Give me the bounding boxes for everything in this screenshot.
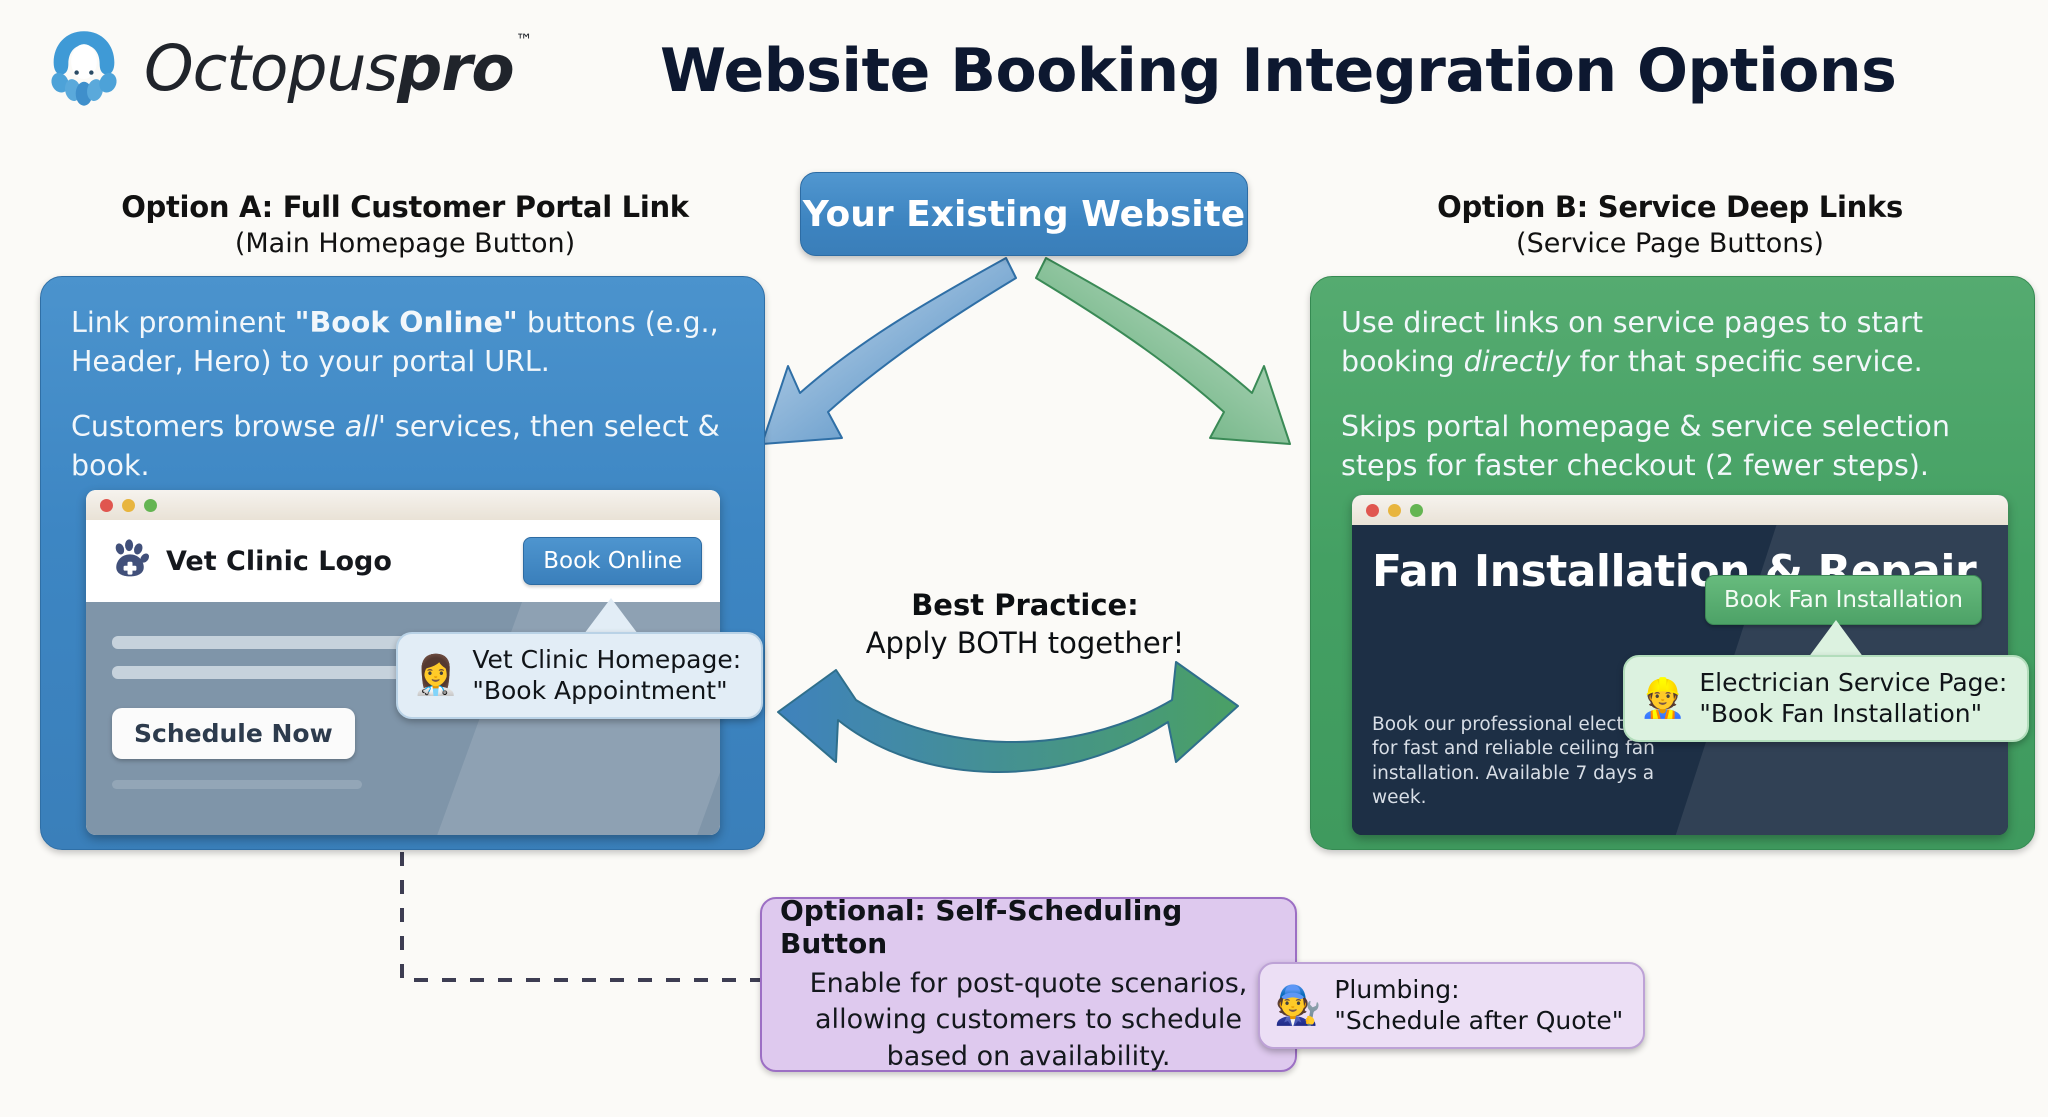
vet-brand: Vet Clinic Logo — [108, 537, 392, 586]
vet-callout-tail — [584, 598, 638, 634]
electrician-callout-text: Electrician Service Page: "Book Fan Inst… — [1699, 668, 2007, 729]
dashed-connector-optional — [402, 852, 760, 980]
para1-bold: "Book Online" — [295, 306, 518, 339]
close-dot-icon[interactable] — [100, 499, 113, 512]
plumbing-callout-text: Plumbing: "Schedule after Quote" — [1334, 975, 1623, 1036]
vet-callout-line2: "Book Appointment" — [472, 676, 727, 705]
arrow-both-directions — [778, 662, 1238, 772]
construction-worker-emoji-icon: 👷 — [1639, 680, 1686, 718]
best-practice-title: Best Practice: — [790, 588, 1260, 622]
optional-title: Optional: Self-Scheduling Button — [780, 894, 1277, 960]
vet-callout-line1: Vet Clinic Homepage: — [472, 645, 741, 674]
plumbing-callout-line2: "Schedule after Quote" — [1334, 1006, 1623, 1035]
vet-callout: 👩‍⚕️ Vet Clinic Homepage: "Book Appointm… — [396, 632, 763, 719]
arrow-to-option-b — [1036, 258, 1290, 444]
placeholder-line — [112, 780, 362, 789]
octopus-logo-icon — [38, 22, 130, 114]
brand-logo: Octopuspro™ — [38, 22, 530, 114]
brand-name-bold: pro — [397, 32, 513, 105]
plumber-emoji-icon: 🧑‍🔧 — [1274, 987, 1321, 1025]
diagram-canvas: Octopuspro™ Website Booking Integration … — [0, 0, 2048, 1117]
para1-pre: Link prominent — [71, 306, 295, 339]
option-b-subheading: (Service Page Buttons) — [1305, 228, 2035, 259]
zoom-dot-icon[interactable] — [1410, 504, 1423, 517]
minimize-dot-icon[interactable] — [122, 499, 135, 512]
b-para1-post: for that specific service. — [1571, 345, 1923, 378]
brand-name-light: Octopus — [144, 32, 397, 105]
schedule-now-button[interactable]: Schedule Now — [112, 708, 355, 759]
existing-website-label: Your Existing Website — [803, 194, 1245, 235]
minimize-dot-icon[interactable] — [1388, 504, 1401, 517]
placeholder-line — [112, 666, 432, 679]
option-b-heading-group: Option B: Service Deep Links (Service Pa… — [1305, 190, 2035, 259]
trademark-symbol: ™ — [516, 31, 532, 51]
vet-callout-text: Vet Clinic Homepage: "Book Appointment" — [472, 645, 741, 706]
plumbing-callout: 🧑‍🔧 Plumbing: "Schedule after Quote" — [1258, 962, 1645, 1049]
para2-pre: Customers browse — [71, 410, 345, 443]
close-dot-icon[interactable] — [1366, 504, 1379, 517]
book-online-button[interactable]: Book Online — [523, 537, 702, 585]
best-practice-note: Best Practice: Apply BOTH together! — [790, 588, 1260, 660]
zoom-dot-icon[interactable] — [144, 499, 157, 512]
option-a-paragraph-1: Link prominent "Book Online" buttons (e.… — [71, 303, 734, 381]
optional-self-scheduling-box: Optional: Self-Scheduling Button Enable … — [760, 897, 1297, 1072]
vet-brand-name: Vet Clinic Logo — [166, 546, 392, 577]
existing-website-node: Your Existing Website — [800, 172, 1248, 256]
best-practice-subtitle: Apply BOTH together! — [790, 626, 1260, 660]
mock-b-titlebar — [1352, 495, 2008, 525]
page-title: Website Booking Integration Options — [660, 36, 1960, 106]
option-b-paragraph-2: Skips portal homepage & service selectio… — [1341, 407, 2004, 485]
para2-italic: all' — [345, 410, 386, 443]
brand-wordmark: Octopuspro™ — [144, 37, 530, 100]
option-a-heading-group: Option A: Full Customer Portal Link (Mai… — [40, 190, 770, 259]
electrician-callout: 👷 Electrician Service Page: "Book Fan In… — [1623, 655, 2029, 742]
mock-a-titlebar — [86, 490, 720, 520]
electrician-callout-tail — [1808, 620, 1864, 658]
electrician-callout-line2: "Book Fan Installation" — [1699, 699, 1982, 728]
optional-body: Enable for post-quote scenarios, allowin… — [780, 966, 1277, 1075]
arrow-to-option-a — [762, 258, 1016, 444]
option-a-subheading: (Main Homepage Button) — [40, 228, 770, 259]
electrician-callout-line1: Electrician Service Page: — [1699, 668, 2007, 697]
book-fan-installation-button[interactable]: Book Fan Installation — [1705, 575, 1982, 625]
b-para1-italic: directly — [1464, 345, 1571, 378]
option-a-heading: Option A: Full Customer Portal Link — [40, 190, 770, 224]
plumbing-callout-line1: Plumbing: — [1334, 975, 1459, 1004]
paw-print-icon — [108, 537, 152, 586]
option-a-paragraph-2: Customers browse all' services, then sel… — [71, 407, 734, 485]
health-worker-emoji-icon: 👩‍⚕️ — [412, 657, 459, 695]
option-b-heading: Option B: Service Deep Links — [1305, 190, 2035, 224]
option-b-paragraph-1: Use direct links on service pages to sta… — [1341, 303, 2004, 381]
vet-site-header: Vet Clinic Logo Book Online — [86, 520, 720, 602]
